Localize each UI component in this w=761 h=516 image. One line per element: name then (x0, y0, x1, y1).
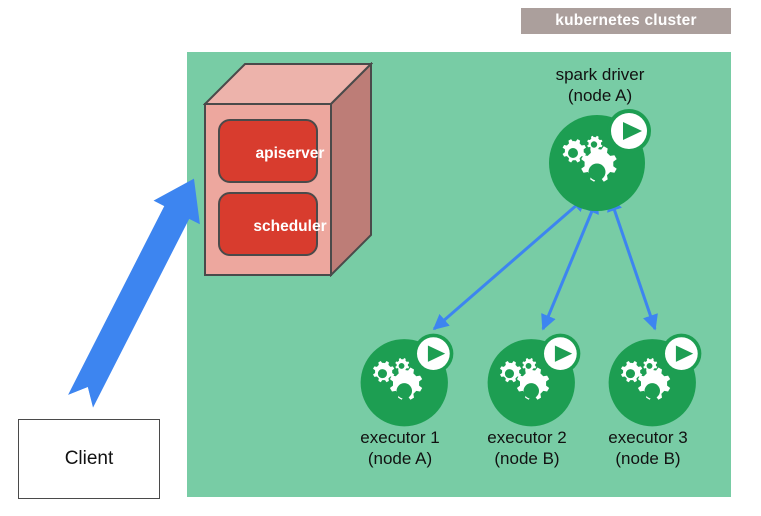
connector-driver-executor-1 (434, 197, 586, 329)
control-plane-cube: apiserver scheduler (203, 62, 373, 277)
executor-1-icon[interactable] (357, 330, 457, 430)
client-label: Client (65, 448, 114, 470)
apiserver-label: apiserver (230, 145, 350, 163)
executor-2-label: executor 2 (node B) (457, 427, 597, 469)
spark-submit-arrow (57, 167, 217, 413)
client-box[interactable]: Client (18, 419, 160, 499)
executor-2-icon[interactable] (484, 330, 584, 430)
connector-driver-executor-3 (610, 197, 655, 329)
executor-3-label: executor 3 (node B) (578, 427, 718, 469)
spark-driver-icon[interactable] (545, 105, 655, 215)
scheduler-label: scheduler (230, 218, 350, 236)
diagram-canvas: kubernetes cluster spark-submit (0, 0, 761, 516)
executor-1-label: executor 1 (node A) (330, 427, 470, 469)
executor-3-icon[interactable] (605, 330, 705, 430)
connector-driver-executor-2 (543, 199, 597, 329)
spark-driver-label: spark driver (node A) (520, 64, 680, 106)
